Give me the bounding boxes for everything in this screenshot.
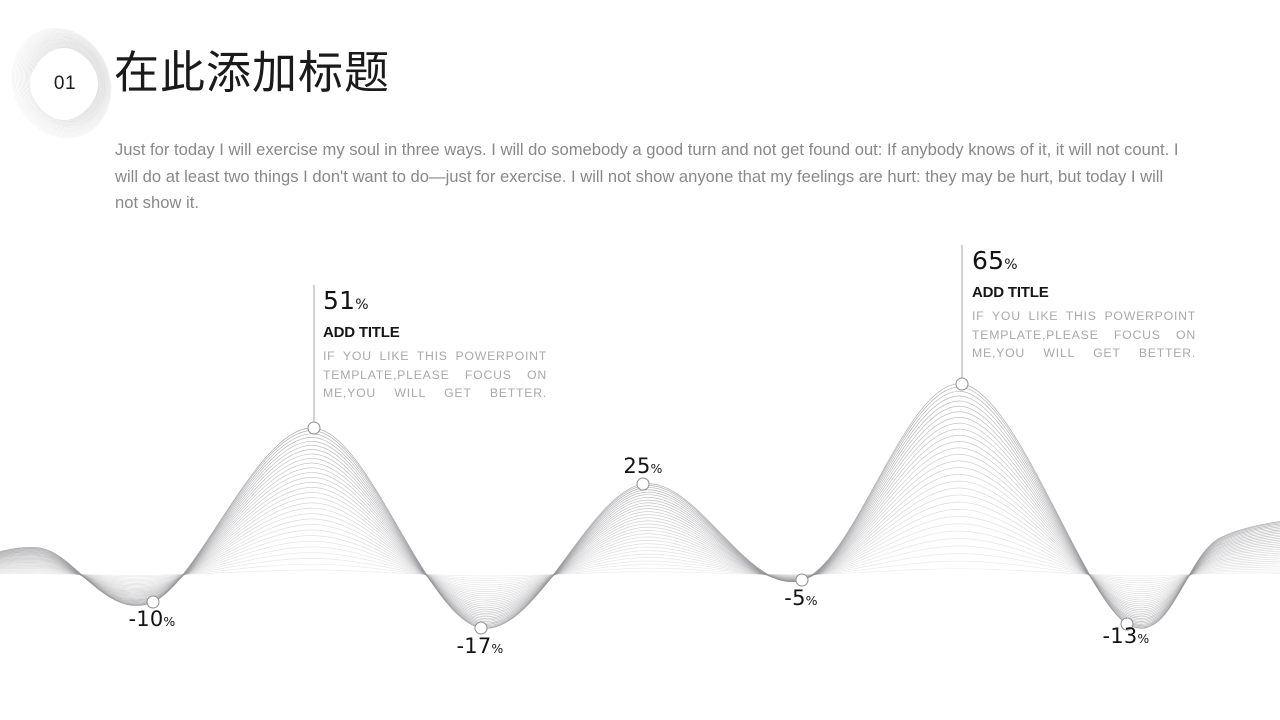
wave-line	[0, 406, 1280, 623]
point-label-percent: %	[1137, 631, 1149, 646]
intro-paragraph: Just for today I will exercise my soul i…	[115, 137, 1189, 217]
wave-line	[0, 524, 1280, 590]
data-point-marker-51[interactable]	[308, 422, 320, 434]
point-label-value: 25	[623, 454, 650, 478]
callout-body: IF YOU LIKE THIS POWERPOINT TEMPLATE,PLE…	[323, 347, 547, 421]
callout-value: 51%	[323, 287, 547, 319]
wave-line	[0, 474, 1280, 604]
callout-value-number: 65	[972, 246, 1004, 275]
callout-65: 65% ADD TITLE IF YOU LIKE THIS POWERPOIN…	[972, 247, 1196, 381]
callout-title: ADD TITLE	[972, 282, 1196, 304]
point-label-percent: %	[651, 461, 663, 476]
wave-line	[0, 387, 1280, 628]
callout-value: 65%	[972, 247, 1196, 279]
wave-line	[0, 423, 1280, 618]
point-label-p25: 25%	[623, 454, 662, 481]
callout-value-number: 51	[323, 286, 355, 315]
callout-value-percent: %	[1004, 257, 1017, 273]
wave-line	[0, 481, 1280, 602]
wave-line	[0, 531, 1280, 587]
callout-51: 51% ADD TITLE IF YOU LIKE THIS POWERPOIN…	[323, 287, 547, 421]
wave-line	[0, 538, 1280, 585]
point-label-n5: -5%	[784, 586, 817, 613]
wave-line-group	[0, 384, 1280, 629]
wave-line	[0, 495, 1280, 598]
data-point-marker-neg5[interactable]	[796, 574, 808, 586]
wave-line	[0, 412, 1280, 622]
wave-line	[0, 509, 1280, 594]
page-title: 在此添加标题	[114, 44, 390, 102]
point-label-percent: %	[163, 614, 175, 629]
data-point-marker-neg17[interactable]	[475, 622, 487, 634]
callout-title: ADD TITLE	[323, 322, 547, 344]
wave-line	[0, 502, 1280, 596]
point-label-percent: %	[491, 641, 503, 656]
point-label-value: -5	[784, 586, 805, 610]
badge-number: 01	[8, 26, 120, 142]
point-label-value: -17	[457, 634, 492, 658]
point-label-value: -13	[1103, 624, 1138, 648]
wave-line	[0, 401, 1280, 624]
point-label-n10: -10%	[129, 607, 176, 634]
point-label-value: -10	[129, 607, 164, 631]
callout-body: IF YOU LIKE THIS POWERPOINT TEMPLATE,PLE…	[972, 307, 1196, 381]
point-label-percent: %	[806, 593, 818, 608]
data-point-marker-65[interactable]	[956, 378, 968, 390]
point-label-n13: -13%	[1103, 624, 1150, 651]
point-label-n17: -17%	[457, 634, 504, 661]
wave-line	[0, 396, 1280, 626]
header-badge: 01	[8, 26, 120, 142]
callout-value-percent: %	[355, 297, 368, 313]
